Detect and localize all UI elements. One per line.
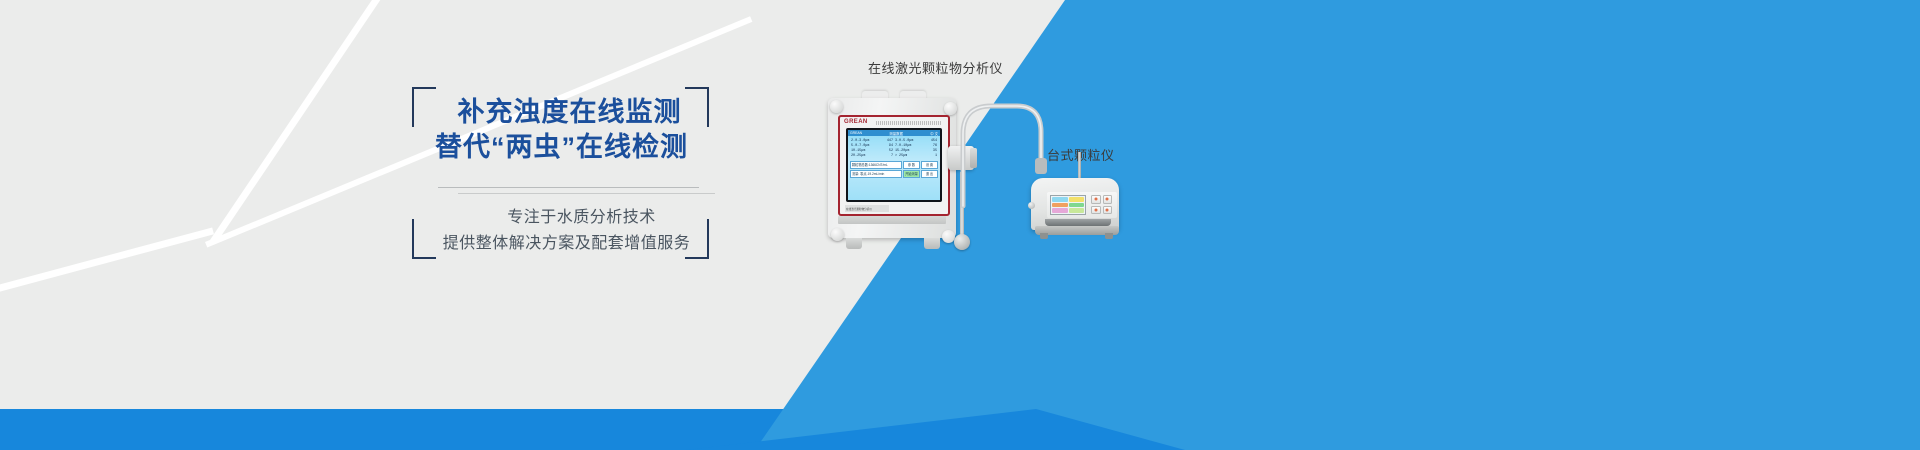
headline-line-2: 替代“两虫”在线检测 (412, 130, 709, 165)
display-flow-field: 流量: 零点-19.2mL/min (850, 170, 902, 178)
subtitle-line-2: 提供整体解决方案及配套增值服务 (412, 231, 709, 257)
benchtop-leg-left (1040, 233, 1048, 239)
headline-text: 补充浊度在线监测 替代“两虫”在线检测 (412, 95, 709, 164)
display-footer-row-1: 颗粒物总数:1366CNT/mL 参 数 设 置 (850, 161, 938, 169)
analyzer-valve (954, 234, 970, 250)
analyzer-nameplate-text: 在线激光颗粒物分析仪 (846, 207, 872, 211)
divider-lower (458, 193, 715, 194)
analyzer-display-bezel: GREAN 测量数据 中 文 2.0-3.0μm4473.0-5.0μm4545… (846, 128, 942, 202)
analyzer-front-panel: GREAN GREAN 测量数据 中 文 2.0-3.0μm4473.0-5.0… (838, 115, 950, 216)
analyzer-bottom-strip (838, 216, 946, 224)
benchtop-display-cell (1069, 203, 1085, 208)
benchtop-key[interactable] (1103, 206, 1113, 215)
display-total-count-field: 颗粒物总数:1366CNT/mL (850, 161, 902, 169)
analyzer-knob-top-right (944, 102, 957, 115)
headline-card: 补充浊度在线监测 替代“两虫”在线检测 专注于水质分析技术 提供整体解决方案及配… (412, 87, 709, 259)
subtitle-text: 专注于水质分析技术 提供整体解决方案及配套增值服务 (412, 205, 709, 256)
display-button-start-measure[interactable]: 开始测量 (903, 170, 920, 178)
analyzer-brand-bars (876, 121, 942, 125)
display-data-table: 2.0-3.0μm4473.0-5.0μm4545.0-7.0μm947.0-1… (850, 138, 938, 159)
benchtop-display-cell (1069, 208, 1085, 213)
display-footer: 颗粒物总数:1366CNT/mL 参 数 设 置 流量: 零点-19.2mL/m… (848, 159, 940, 178)
promo-banner: 补充浊度在线监测 替代“两虫”在线检测 专注于水质分析技术 提供整体解决方案及配… (0, 0, 1920, 450)
benchtop-inlet-port (1028, 202, 1035, 209)
benchtop-display-cell (1052, 208, 1068, 213)
display-footer-row-2: 流量: 零点-19.2mL/min 开始测量 退 出 (850, 170, 938, 178)
display-title-center: 测量数据 (889, 131, 903, 136)
analyzer-sensor-ring (970, 148, 977, 168)
display-title-brand: GREAN (850, 131, 862, 135)
analyzer-knob-bottom-left (831, 228, 844, 241)
analyzer-foot-right (924, 238, 940, 249)
device-benchtop-particle-counter (1031, 172, 1125, 242)
display-button-exit[interactable]: 退 出 (921, 170, 938, 178)
device-online-laser-particle-analyzer: GREAN GREAN 测量数据 中 文 2.0-3.0μm4473.0-5.0… (824, 88, 963, 258)
display-title-lang: 中 文 (930, 131, 938, 136)
divider-upper (438, 187, 699, 188)
benchtop-display-cell (1069, 197, 1085, 202)
display-titlebar: GREAN 测量数据 中 文 (848, 130, 940, 136)
analyzer-side-pipe (960, 172, 964, 238)
benchtop-key[interactable] (1091, 206, 1101, 215)
product-label-analyzer: 在线激光颗粒物分析仪 (868, 58, 1003, 77)
analyzer-knob-top-left (830, 100, 843, 113)
analyzer-display[interactable]: GREAN 测量数据 中 文 2.0-3.0μm4473.0-5.0μm4545… (848, 130, 940, 200)
benchtop-key[interactable] (1103, 195, 1113, 204)
benchtop-sample-tray (1045, 219, 1111, 226)
display-button-param[interactable]: 参 数 (903, 161, 920, 169)
benchtop-key[interactable] (1091, 195, 1101, 204)
display-data-area: 2.0-3.0μm4473.0-5.0μm4545.0-7.0μm947.0-1… (848, 138, 940, 159)
subtitle-line-1: 专注于水质分析技术 (412, 205, 709, 231)
analyzer-brand-logo: GREAN (844, 119, 868, 125)
benchtop-display[interactable] (1050, 195, 1086, 215)
benchtop-display-cell (1052, 203, 1068, 208)
display-button-settings[interactable]: 设 置 (921, 161, 938, 169)
benchtop-leg-right (1105, 233, 1113, 239)
headline-line-1: 补充浊度在线监测 (412, 95, 709, 130)
benchtop-display-cell (1052, 197, 1068, 202)
benchtop-keypad[interactable] (1091, 195, 1112, 214)
analyzer-foot-left (846, 238, 862, 249)
